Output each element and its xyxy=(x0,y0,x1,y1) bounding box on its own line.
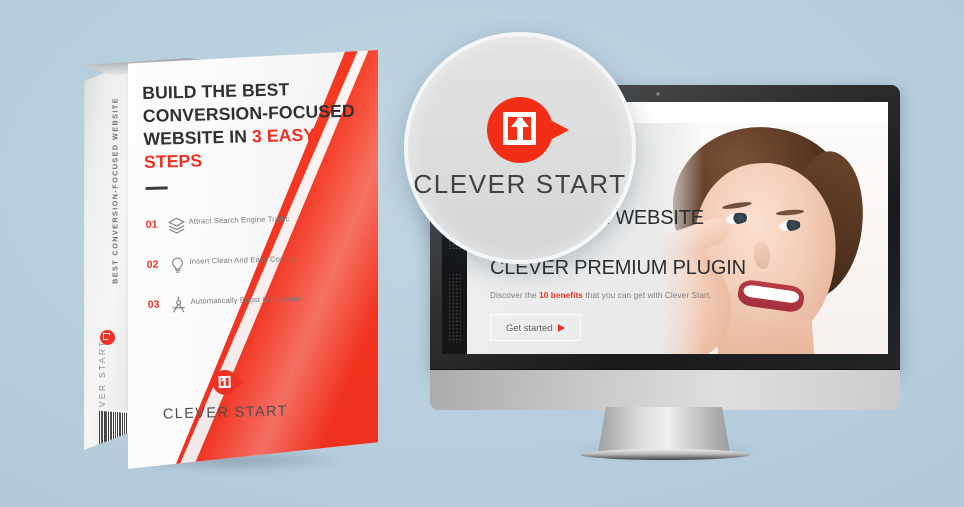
magnifier-brand-name: CLEVER START xyxy=(413,169,626,200)
logo-speech-tail-icon xyxy=(233,377,243,387)
box-step-item: 02 Insert Clean And Easy Coding xyxy=(146,250,370,275)
monitor-stand-base xyxy=(580,449,750,460)
monitor-stand-neck xyxy=(598,407,730,453)
box-steps-list: 01 Attract Search Engine Traffic 02 xyxy=(145,210,371,315)
logo-up-arrow-icon xyxy=(223,378,226,387)
clever-start-logo-icon xyxy=(487,97,553,163)
monitor-chin xyxy=(430,369,900,410)
scene-canvas: BEST CONVERSION-FOCUSED WEBSITE CLEVER S… xyxy=(0,0,964,507)
box-headline-divider xyxy=(146,186,168,190)
get-started-label: Get started xyxy=(506,322,552,333)
box-spine-face: BEST CONVERSION-FOCUSED WEBSITE CLEVER S… xyxy=(84,62,130,450)
box-headline-line-3-prefix: WEBSITE IN xyxy=(143,126,252,149)
box-step-item: 01 Attract Search Engine Traffic xyxy=(145,210,369,235)
box-step-text: Insert Clean And Easy Coding xyxy=(189,252,295,267)
box-headline: BUILD THE BEST CONVERSION-FOCUSED WEBSIT… xyxy=(142,76,368,174)
sidebar-dot-pattern-lower xyxy=(448,273,461,343)
webcam-icon xyxy=(656,92,661,97)
box-step-number: 02 xyxy=(146,255,165,270)
box-headline-line-2: CONVERSION-FOCUSED xyxy=(143,101,355,126)
box-front-content: BUILD THE BEST CONVERSION-FOCUSED WEBSIT… xyxy=(142,76,372,336)
layers-icon xyxy=(164,215,188,235)
get-started-button[interactable]: Get started xyxy=(490,314,581,341)
play-triangle-icon xyxy=(558,324,565,332)
logo-speech-tail-icon xyxy=(543,116,569,144)
hero-subtext-after: that you can get with Clever Start. xyxy=(583,291,712,300)
compass-icon xyxy=(166,295,190,315)
hero-subtext: Discover the 10 benefits that you can ge… xyxy=(490,291,758,300)
box-headline-line-1: BUILD THE BEST xyxy=(142,79,290,103)
product-box: BEST CONVERSION-FOCUSED WEBSITE CLEVER S… xyxy=(70,48,400,468)
box-step-number: 01 xyxy=(145,215,164,230)
box-step-text: Automatically Boost Conversion xyxy=(190,292,302,307)
clever-start-logo-icon xyxy=(212,370,238,396)
box-step-item: 03 Automatically Boost Conversion xyxy=(147,290,371,315)
lightbulb-icon xyxy=(165,255,189,275)
box-step-text: Attract Search Engine Traffic xyxy=(188,212,289,227)
box-step-number: 03 xyxy=(147,295,166,310)
box-brand-lockup: CLEVER START xyxy=(139,368,310,423)
hero-subtext-accent: 10 benefits xyxy=(539,291,583,300)
hero-subtext-before: Discover the xyxy=(490,291,539,300)
magnifier-logo-callout: CLEVER START xyxy=(404,32,636,264)
box-spine-text: BEST CONVERSION-FOCUSED WEBSITE xyxy=(111,72,120,310)
logo-up-arrow-icon xyxy=(517,118,523,142)
